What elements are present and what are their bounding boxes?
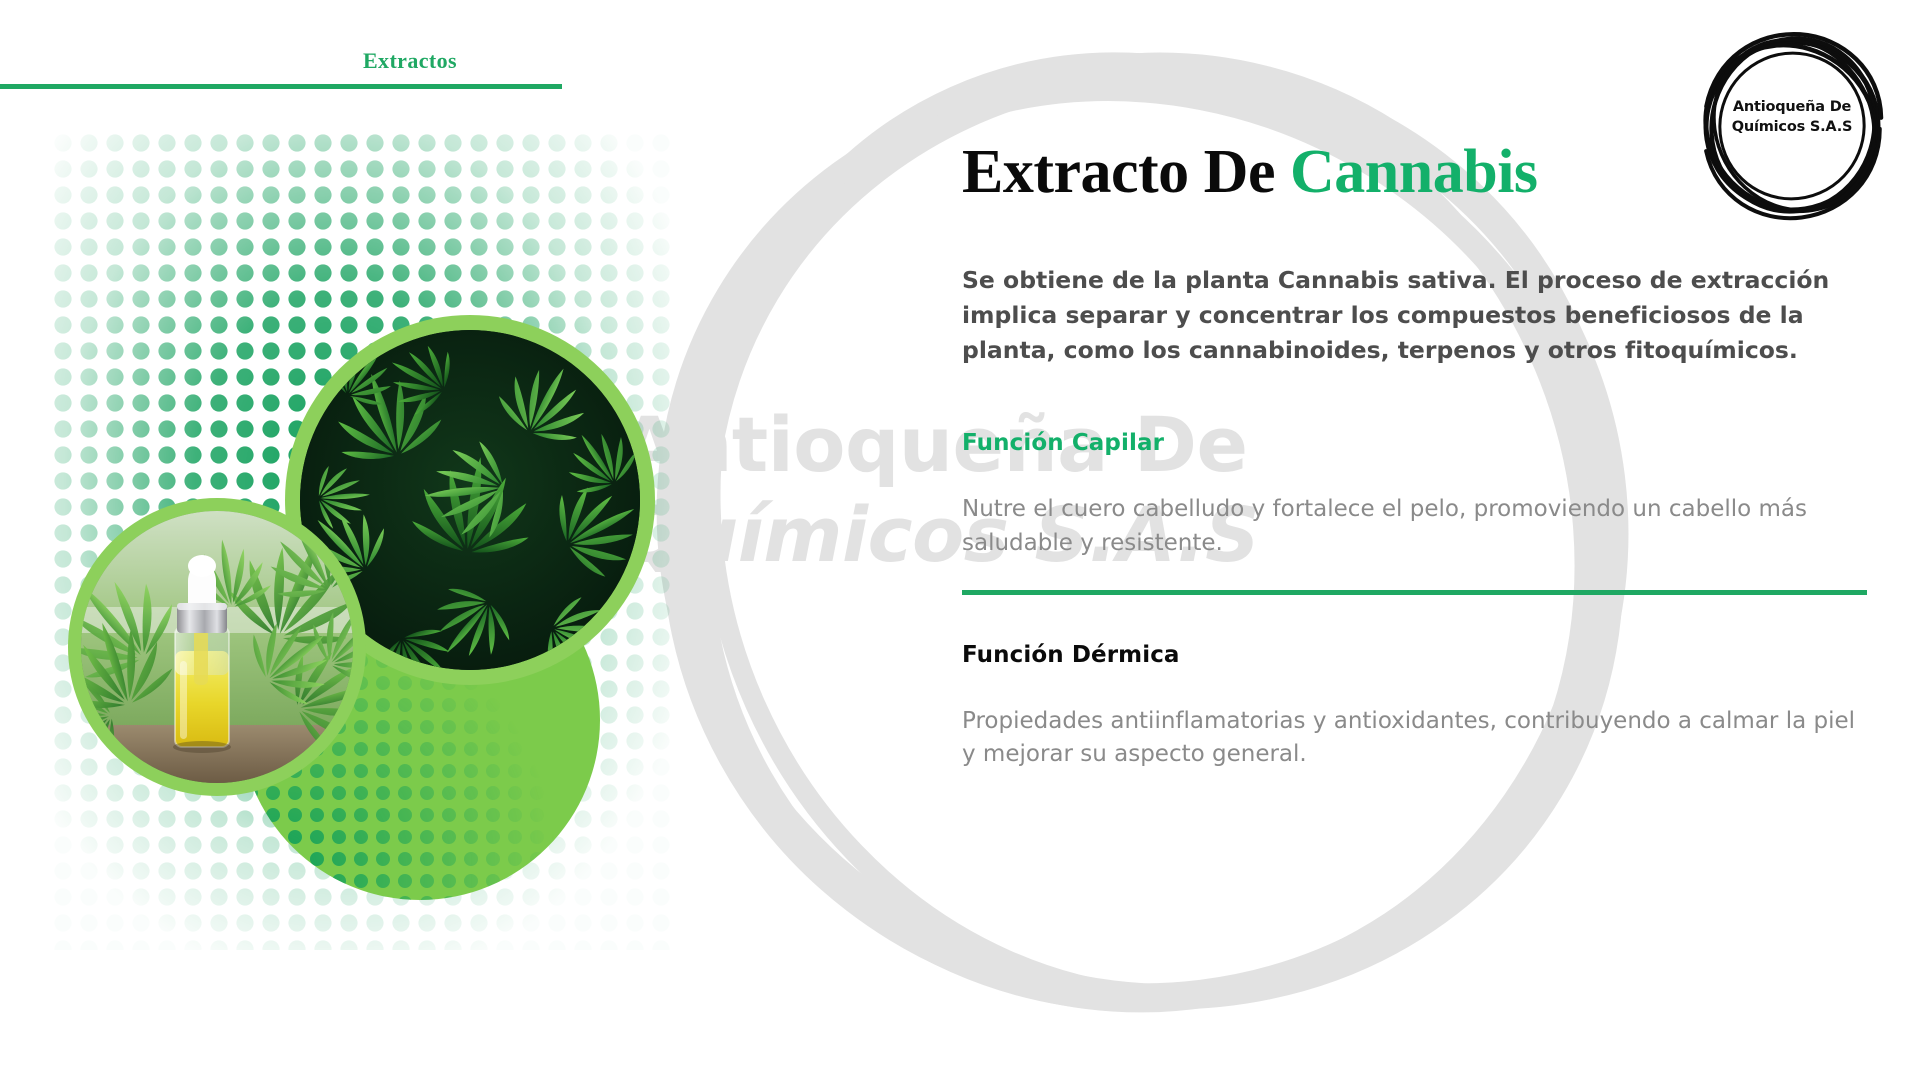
section-dermica-body: Propiedades antiinflamatorias y antioxid… <box>962 705 1862 772</box>
header-label-text: Extractos <box>363 48 562 74</box>
cbd-oil-circle <box>68 498 366 796</box>
section-capilar-body: Nutre el cuero cabelludo y fortalece el … <box>962 493 1862 560</box>
section-divider <box>962 590 1867 595</box>
intro-paragraph: Se obtiene de la planta Cannabis sativa.… <box>962 263 1852 367</box>
company-logo: Antioqueña De Químicos S.A.S <box>1692 26 1892 226</box>
section-dermica: Función Dérmica Propiedades antiinflamat… <box>962 641 1872 772</box>
slide-root: Antioqueña De Químicos S.A.S Extractos A… <box>0 0 1920 1080</box>
section-dermica-title: Función Dérmica <box>962 641 1872 671</box>
page-title-black: Extracto De <box>962 138 1275 206</box>
section-capilar-title: Función Capilar <box>962 429 1872 459</box>
header-label: Extractos <box>0 48 562 74</box>
logo-line-2: Químicos S.A.S <box>1692 118 1892 138</box>
main-content: Extracto De Cannabis Se obtiene de la pl… <box>962 140 1872 772</box>
section-capilar: Función Capilar Nutre el cuero cabelludo… <box>962 429 1872 560</box>
logo-line-1: Antioqueña De <box>1692 98 1892 118</box>
page-title-accent: Cannabis <box>1290 138 1538 206</box>
header-accent-bar <box>0 84 562 89</box>
cbd-oil-dropper-bottle-photo <box>81 511 353 783</box>
logo-text: Antioqueña De Químicos S.A.S <box>1692 98 1892 137</box>
